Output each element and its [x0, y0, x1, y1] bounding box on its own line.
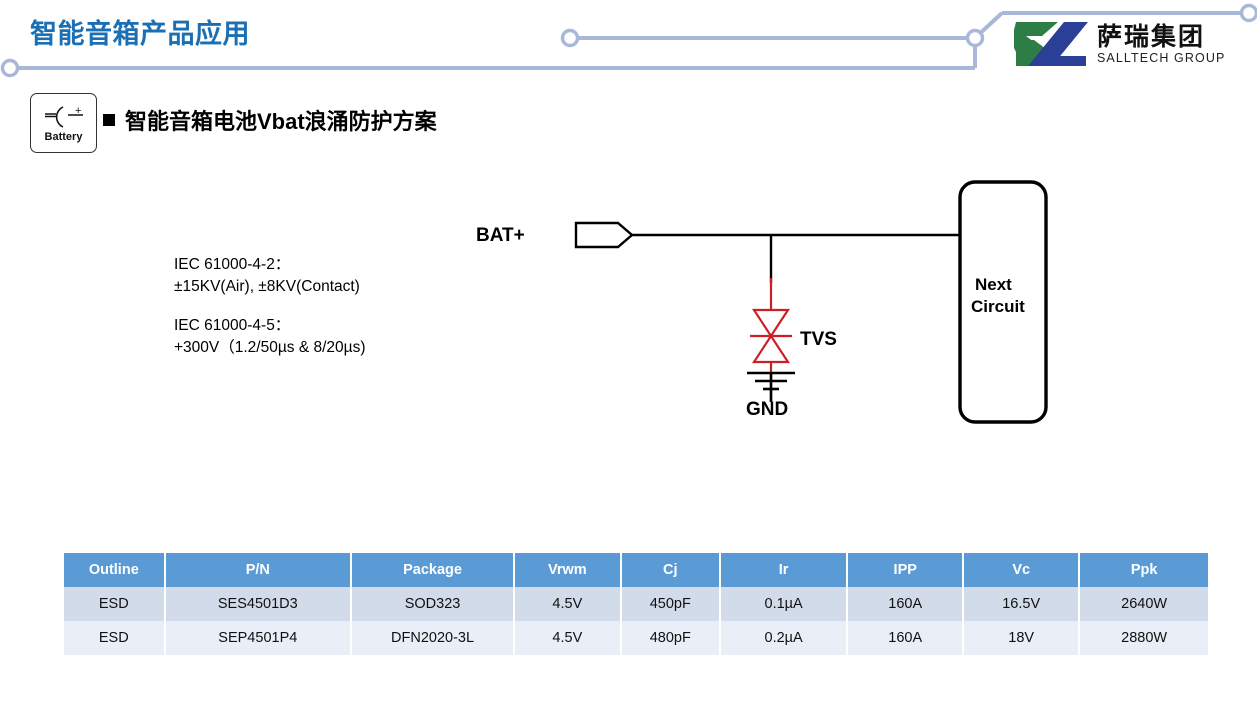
- battery-icon: +: [39, 104, 89, 130]
- section-subtitle-text: 智能音箱电池Vbat浪涌防护方案: [125, 104, 437, 136]
- circuit-label-bat-plus: BAT+: [476, 225, 525, 246]
- cell-pn: SES4501D3: [165, 587, 351, 621]
- cell-vc: 16.5V: [963, 587, 1079, 621]
- cell-package: DFN2020-3L: [351, 621, 514, 655]
- table-header-pn: P/N: [165, 553, 351, 587]
- table-header-package: Package: [351, 553, 514, 587]
- battery-badge-label: Battery: [45, 131, 83, 143]
- table-header-cj: Cj: [621, 553, 720, 587]
- cell-ppk: 2640W: [1079, 587, 1208, 621]
- table-header-vc: Vc: [963, 553, 1079, 587]
- section-subtitle: 智能音箱电池Vbat浪涌防护方案: [103, 104, 437, 136]
- trace-node-junction: [968, 31, 983, 46]
- cell-ir: 0.2µA: [720, 621, 847, 655]
- cell-ipp: 160A: [847, 621, 963, 655]
- table-header-vrwm: Vrwm: [514, 553, 621, 587]
- cell-package: SOD323: [351, 587, 514, 621]
- cell-ipp: 160A: [847, 587, 963, 621]
- cell-outline: ESD: [64, 621, 165, 655]
- table-row: ESD SES4501D3 SOD323 4.5V 450pF 0.1µA 16…: [64, 587, 1208, 621]
- product-spec-table: Outline P/N Package Vrwm Cj Ir IPP Vc Pp…: [64, 553, 1208, 655]
- table-header-outline: Outline: [64, 553, 165, 587]
- cell-cj: 450pF: [621, 587, 720, 621]
- trace-node-middle: [563, 31, 578, 46]
- table-header-ir: Ir: [720, 553, 847, 587]
- logo-name-en: SALLTECH GROUP: [1097, 52, 1225, 65]
- logo-wordmark: 萨瑞集团 SALLTECH GROUP: [1097, 24, 1225, 65]
- tvs-diode-icon: [750, 310, 792, 362]
- input-connector-icon: [576, 223, 632, 247]
- battery-badge: + Battery: [30, 93, 97, 153]
- next-circuit-label-line1: Next: [975, 275, 1012, 294]
- brand-logo: 萨瑞集团 SALLTECH GROUP: [1012, 18, 1225, 70]
- spec-line-surge-values: +300V（1.2/50µs & 8/20µs): [174, 337, 366, 359]
- page-title: 智能音箱产品应用: [30, 12, 250, 51]
- spec-line-iec-4-5: IEC 61000-4-5：: [174, 315, 366, 337]
- cell-pn: SEP4501P4: [165, 621, 351, 655]
- next-circuit-label-line2: Circuit: [971, 297, 1025, 316]
- circuit-diagram: BAT+ TVS GND Next Circuit: [440, 170, 1100, 440]
- cell-vc: 18V: [963, 621, 1079, 655]
- cell-ppk: 2880W: [1079, 621, 1208, 655]
- cell-cj: 480pF: [621, 621, 720, 655]
- ground-icon: [747, 372, 795, 402]
- cell-outline: ESD: [64, 587, 165, 621]
- cell-ir: 0.1µA: [720, 587, 847, 621]
- cell-vrwm: 4.5V: [514, 621, 621, 655]
- square-bullet-icon: [103, 114, 115, 126]
- logo-name-cn: 萨瑞集团: [1097, 24, 1225, 49]
- cell-vrwm: 4.5V: [514, 587, 621, 621]
- trace-node-right: [1242, 6, 1257, 21]
- table-header-ipp: IPP: [847, 553, 963, 587]
- circuit-label-tvs: TVS: [800, 329, 837, 350]
- table-header-ppk: Ppk: [1079, 553, 1208, 587]
- spec-line-esd-values: ±15KV(Air), ±8KV(Contact): [174, 276, 366, 298]
- table-row: ESD SEP4501P4 DFN2020-3L 4.5V 480pF 0.2µ…: [64, 621, 1208, 655]
- standards-spec-block: IEC 61000-4-2： ±15KV(Air), ±8KV(Contact)…: [174, 254, 366, 359]
- salltech-logo-icon: [1012, 18, 1090, 70]
- circuit-label-gnd: GND: [746, 399, 788, 420]
- svg-text:+: +: [75, 105, 81, 117]
- trace-node-left: [3, 61, 18, 76]
- table-header-row: Outline P/N Package Vrwm Cj Ir IPP Vc Pp…: [64, 553, 1208, 587]
- spec-line-iec-4-2: IEC 61000-4-2：: [174, 254, 366, 276]
- spec-spacer: [174, 298, 366, 315]
